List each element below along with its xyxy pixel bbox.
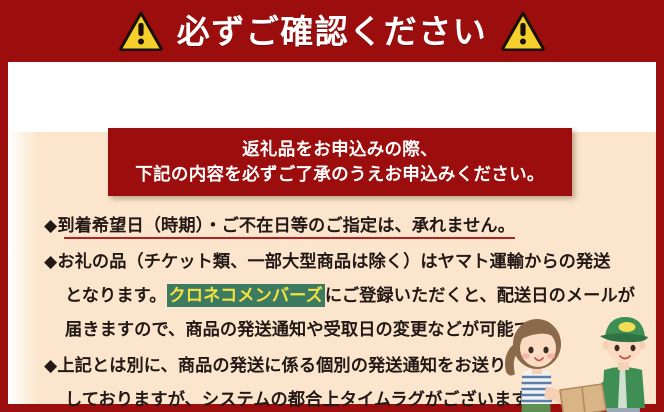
notice-banner: 必ずご確認ください 返礼品をお申込みの際、 下記の内容を必ずご了承のうえお申込み… — [0, 0, 664, 412]
warning-triangle-icon — [501, 11, 545, 51]
term-2-line-1: ◆お礼の品（チケット類、一部大型商品は除く）はヤマト運輸からの発送 — [44, 244, 644, 278]
notice-box: 返礼品をお申込みの際、 下記の内容を必ずご了承のうえお申込みください。 — [108, 128, 572, 196]
page-title: 必ずご確認ください — [177, 15, 488, 48]
kuroneko-members-highlight: クロネコメンバーズ — [167, 284, 325, 307]
underlined-statement: ◆到着希望日（時期）・ご不在日等のご指定は、承れません。 — [44, 208, 515, 242]
content-frame: 返礼品をお申込みの際、 下記の内容を必ずご了承のうえお申込みください。 ◆到着希… — [8, 62, 656, 404]
notice-line-1: 返礼品をお申込みの際、 — [242, 139, 438, 161]
red-underline — [64, 237, 515, 239]
diamond-marker: ◆ — [44, 355, 57, 375]
term-2-text-2: となります。 — [65, 285, 167, 305]
term-3-text-1: 上記とは別に、商品の発送に係る個別の発送通知をお送り — [57, 355, 506, 375]
term-2-text-4: 届きますので、商品の発送通知や受取日の変更などが可能です。 — [65, 319, 564, 339]
delivery-handoff-illustration — [494, 306, 664, 412]
diamond-marker: ◆ — [44, 251, 57, 271]
diamond-marker: ◆ — [44, 215, 57, 235]
term-3-text-2: しておりますが、システムの都合上タイムラグがございます — [65, 389, 529, 409]
term-2-text-3: にご登録いただくと、配送日のメールが — [325, 285, 635, 305]
notice-line-2: 下記の内容を必ずご了承のうえお申込みください。 — [135, 164, 544, 186]
cardboard-box — [560, 384, 606, 412]
term-item-1: ◆到着希望日（時期）・ご不在日等のご指定は、承れません。 — [44, 208, 644, 242]
term-1-line-1: ◆到着希望日（時期）・ご不在日等のご指定は、承れません。 — [44, 208, 644, 242]
warning-triangle-icon — [119, 11, 163, 51]
cream-fade — [8, 132, 38, 404]
term-2-text-1: お礼の品（チケット類、一部大型商品は除く）はヤマト運輸からの発送 — [57, 251, 610, 271]
banner-header: 必ずご確認ください — [0, 0, 664, 62]
term-1-text: 到着希望日（時期）・ご不在日等のご指定は、承れません。 — [57, 215, 515, 235]
